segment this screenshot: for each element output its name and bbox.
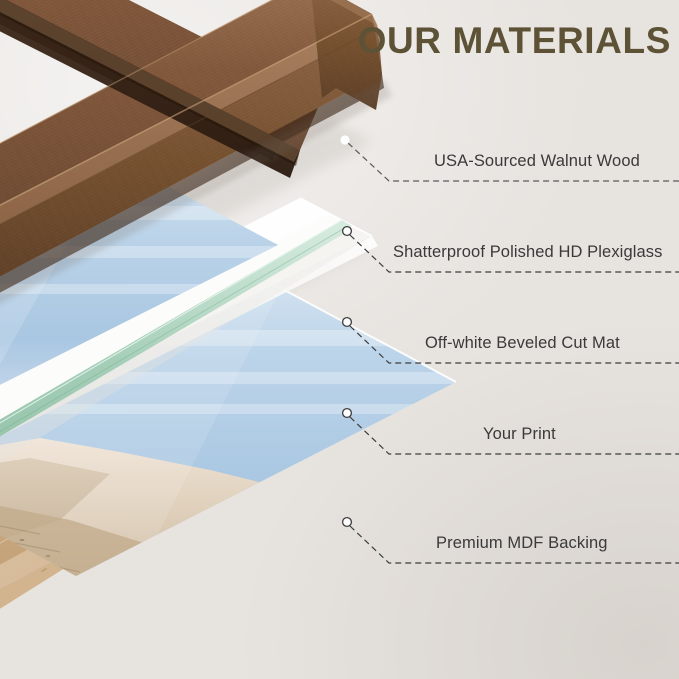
callout-label-walnut-wood: USA-Sourced Walnut Wood <box>434 152 640 171</box>
infographic-canvas: OUR MATERIALS USA-Sourced Walnut W <box>0 0 679 679</box>
callout-label-plexiglass: Shatterproof Polished HD Plexiglass <box>393 243 662 262</box>
marker-ring-plexiglass <box>343 227 352 236</box>
marker-dot-walnut-wood <box>340 135 349 144</box>
marker-ring-mdf-backing <box>343 518 352 527</box>
callout-label-your-print: Your Print <box>483 425 556 444</box>
callout-label-mdf-backing: Premium MDF Backing <box>436 534 608 553</box>
callout-label-cut-mat: Off-white Beveled Cut Mat <box>425 334 620 353</box>
marker-ring-your-print <box>343 409 352 418</box>
marker-ring-cut-mat <box>343 318 352 327</box>
